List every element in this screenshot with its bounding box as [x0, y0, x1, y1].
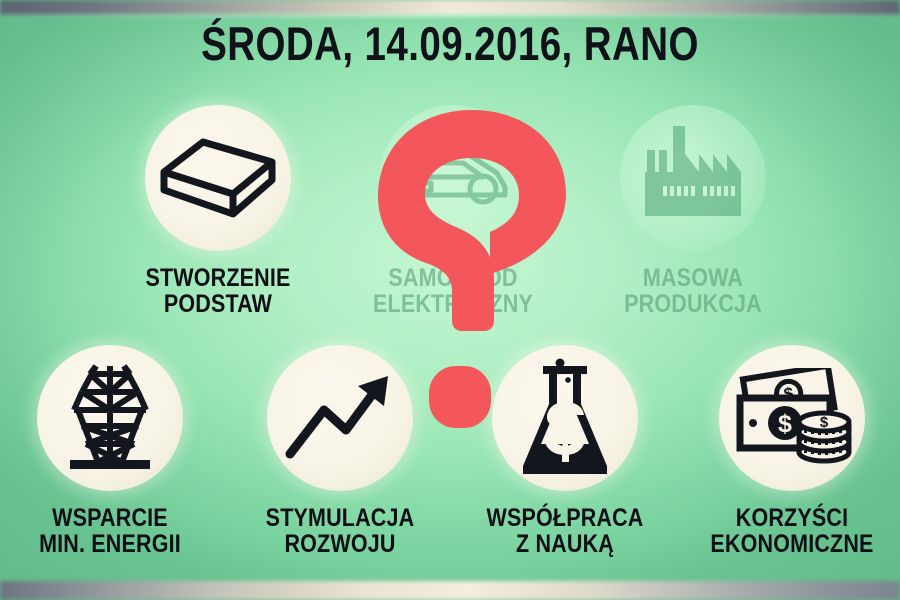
infographic-canvas: ŚRODA, 14.09.2016, RANO STWORZENIE PODST… [0, 0, 900, 600]
grid-item-label: WSPÓŁPRACA Z NAUKĄ [483, 505, 646, 557]
grid-item-stworzenie-podstaw[interactable]: STWORZENIE PODSTAW [123, 105, 313, 317]
top-letterbox-band [0, 0, 900, 15]
label-line-2: ELEKTRYCZNY [373, 290, 533, 318]
electric-car-icon [397, 143, 509, 213]
grid-item-wspolpraca-z-nauka[interactable]: WSPÓŁPRACA Z NAUKĄ [470, 345, 660, 557]
icon-disc [620, 105, 766, 251]
grid-item-label: STYMULACJA ROZWOJU [258, 505, 421, 557]
icon-disc [37, 345, 183, 491]
icon-disc [267, 345, 413, 491]
growth-arrow-icon [284, 372, 396, 464]
grid-item-masowa-produkcja[interactable]: MASOWA PRODUKCJA [598, 105, 788, 317]
icon-grid: STWORZENIE PODSTAW SAMOCHÓD ELEKTRYCZNY [0, 0, 900, 600]
factory-icon [641, 124, 745, 232]
label-line-2: PODSTAW [164, 290, 272, 318]
icon-disc [492, 345, 638, 491]
label-line-1: STYMULACJA [266, 504, 415, 532]
label-line-1: SAMOCHÓD [388, 264, 517, 292]
grid-item-stymulacja-rozwoju[interactable]: STYMULACJA ROZWOJU [245, 345, 435, 557]
grid-item-wsparcie-min-energii[interactable]: WSPARCIE MIN. ENERGII [15, 345, 205, 557]
label-line-2: Z NAUKĄ [516, 530, 614, 558]
label-line-1: KORZYŚCI [736, 504, 848, 532]
label-line-1: WSPÓŁPRACA [486, 504, 643, 532]
label-line-2: PRODUKCJA [624, 290, 762, 318]
label-line-2: ROZWOJU [284, 530, 395, 558]
icon-disc [145, 105, 291, 251]
label-line-1: WSPARCIE [52, 504, 168, 532]
label-line-2: EKONOMICZNE [710, 530, 873, 558]
icon-disc: $ $ [719, 345, 865, 491]
power-pylon-icon [60, 362, 160, 474]
brick-icon [159, 132, 277, 224]
grid-item-label: SAMOCHÓD ELEKTRYCZNY [371, 265, 534, 317]
grid-item-label: WSPARCIE MIN. ENERGII [28, 505, 191, 557]
grid-item-samochod-elektryczny[interactable]: SAMOCHÓD ELEKTRYCZNY [358, 105, 548, 317]
label-line-1: MASOWA [643, 264, 743, 292]
money-bills-coins-icon: $ $ [732, 368, 852, 468]
icon-disc [380, 105, 526, 251]
grid-item-korzysci-ekonomiczne[interactable]: $ $ [697, 345, 887, 557]
grid-item-label: MASOWA PRODUKCJA [611, 265, 774, 317]
label-line-1: STWORZENIE [145, 264, 290, 292]
grid-item-label: KORZYŚCI EKONOMICZNE [710, 505, 873, 557]
svg-text:$: $ [778, 410, 792, 438]
svg-text:$: $ [820, 414, 829, 431]
flask-dollar-icon [517, 358, 613, 478]
label-line-2: MIN. ENERGII [39, 530, 181, 558]
grid-item-label: STWORZENIE PODSTAW [136, 265, 299, 317]
page-title: ŚRODA, 14.09.2016, RANO [81, 20, 819, 67]
bottom-letterbox-band [0, 581, 900, 600]
